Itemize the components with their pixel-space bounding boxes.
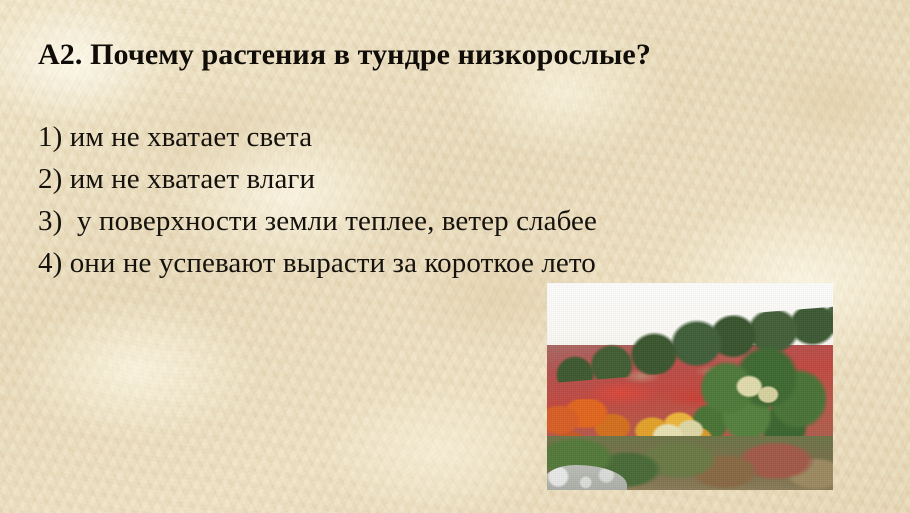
- slide-content: А2. Почему растения в тундре низкорослые…: [0, 0, 910, 513]
- answer-option-3[interactable]: 3) у поверхности земли теплее, ветер сла…: [38, 200, 597, 242]
- answer-options-list: 1) им не хватает света 2) им не хватает …: [38, 116, 597, 284]
- photo-grain-overlay: [547, 283, 833, 490]
- answer-option-1[interactable]: 1) им не хватает света: [38, 116, 597, 158]
- slide: А2. Почему растения в тундре низкорослые…: [0, 0, 910, 513]
- answer-option-4[interactable]: 4) они не успевают вырасти за короткое л…: [38, 242, 597, 284]
- answer-option-2[interactable]: 2) им не хватает влаги: [38, 158, 597, 200]
- tundra-photo-canvas: [547, 283, 833, 490]
- tundra-photo: [547, 283, 833, 490]
- page-title: А2. Почему растения в тундре низкорослые…: [38, 38, 651, 72]
